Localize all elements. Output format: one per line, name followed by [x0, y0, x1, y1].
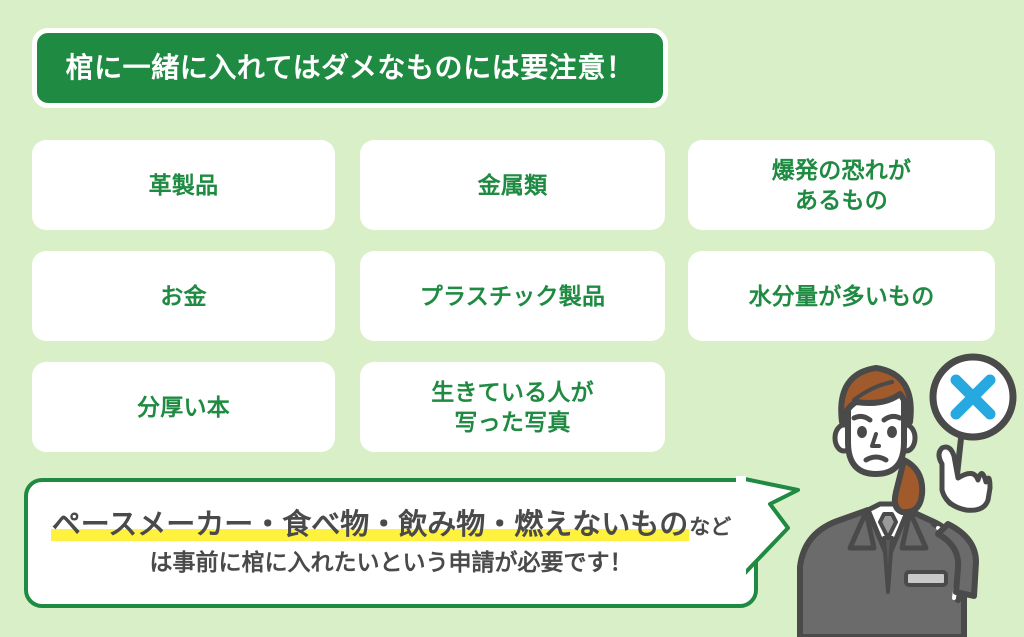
illustration-woman-with-x-sign — [788, 352, 1024, 637]
item-card: プラスチック製品 — [360, 251, 665, 341]
highlighted-text: ペースメーカー・食べ物・飲み物・燃えないもの — [51, 509, 690, 541]
item-card-label: プラスチック製品 — [420, 281, 605, 311]
item-card-label: お金 — [160, 281, 206, 311]
bubble-line-2: は事前に棺に入れたいという申請が必要です！ — [150, 550, 633, 575]
header-banner: 棺に一緒に入れてはダメなものには要注意！ — [32, 28, 668, 108]
item-card: 分厚い本 — [32, 362, 335, 452]
body-and-suit — [800, 447, 990, 637]
item-card-label: 生きている人が 写った写真 — [431, 377, 594, 438]
page-title: 棺に一緒に入れてはダメなものには要注意！ — [66, 54, 635, 82]
bubble-suffix: など — [689, 516, 731, 539]
head — [835, 368, 922, 512]
item-card: お金 — [32, 251, 335, 341]
item-card: 水分量が多いもの — [688, 251, 995, 341]
item-card-label: 爆発の恐れが あるもの — [772, 155, 911, 216]
item-card-label: 革製品 — [149, 170, 219, 200]
item-card: 生きている人が 写った写真 — [360, 362, 665, 452]
item-card-label: 水分量が多いもの — [749, 281, 935, 311]
item-card: 革製品 — [32, 140, 335, 230]
note-speech-bubble: ペースメーカー・食べ物・飲み物・燃えないものなど は事前に棺に入れたいという申請… — [24, 478, 758, 608]
item-card-label: 金属類 — [478, 170, 548, 200]
item-card-label: 分厚い本 — [137, 392, 230, 422]
item-card: 爆発の恐れが あるもの — [688, 140, 995, 230]
bubble-line-1: ペースメーカー・食べ物・飲み物・燃えないものなど — [51, 510, 732, 542]
item-card: 金属類 — [360, 140, 665, 230]
infographic-canvas: 棺に一緒に入れてはダメなものには要注意！ 革製品 金属類 爆発の恐れが あるもの… — [0, 0, 1024, 637]
